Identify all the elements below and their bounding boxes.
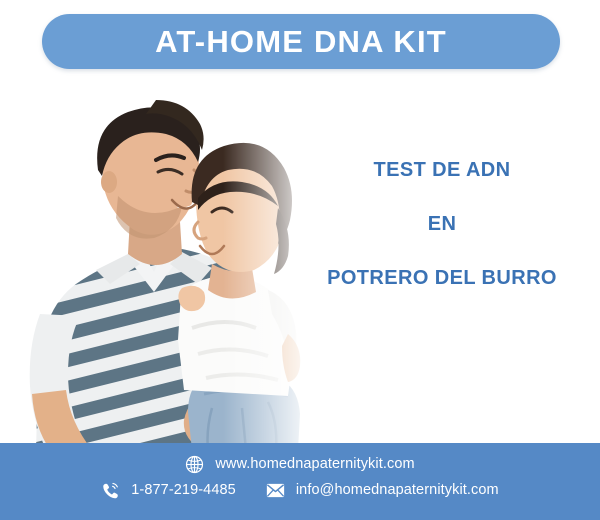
footer-row-phone-email: 1-877-219-4485 info@homednapaternitykit.… (0, 481, 600, 500)
header-banner: AT-HOME DNA KIT (42, 14, 560, 69)
headline-line-1: TEST DE ADN (292, 160, 592, 180)
website-item[interactable]: www.homednapaternitykit.com (185, 455, 414, 474)
family-photo (6, 78, 316, 450)
headline-line-3: POTRERO DEL BURRO (292, 268, 592, 288)
email-label: info@homednapaternitykit.com (296, 483, 499, 498)
promo-poster: AT-HOME DNA KIT (0, 0, 600, 520)
email-item[interactable]: info@homednapaternitykit.com (266, 481, 499, 500)
header-title: AT-HOME DNA KIT (155, 26, 447, 57)
headline-block: TEST DE ADN EN POTRERO DEL BURRO (292, 160, 592, 288)
family-photo-illustration (6, 78, 316, 450)
globe-icon (185, 455, 204, 474)
footer-contact-bar: www.homednapaternitykit.com 1-877-219-44… (0, 443, 600, 520)
footer-row-website: www.homednapaternitykit.com (0, 455, 600, 474)
envelope-icon (266, 481, 285, 500)
headline-line-2: EN (292, 214, 592, 234)
website-label: www.homednapaternitykit.com (215, 457, 414, 472)
phone-label: 1-877-219-4485 (131, 483, 236, 498)
phone-item[interactable]: 1-877-219-4485 (101, 481, 236, 500)
phone-icon (101, 481, 120, 500)
